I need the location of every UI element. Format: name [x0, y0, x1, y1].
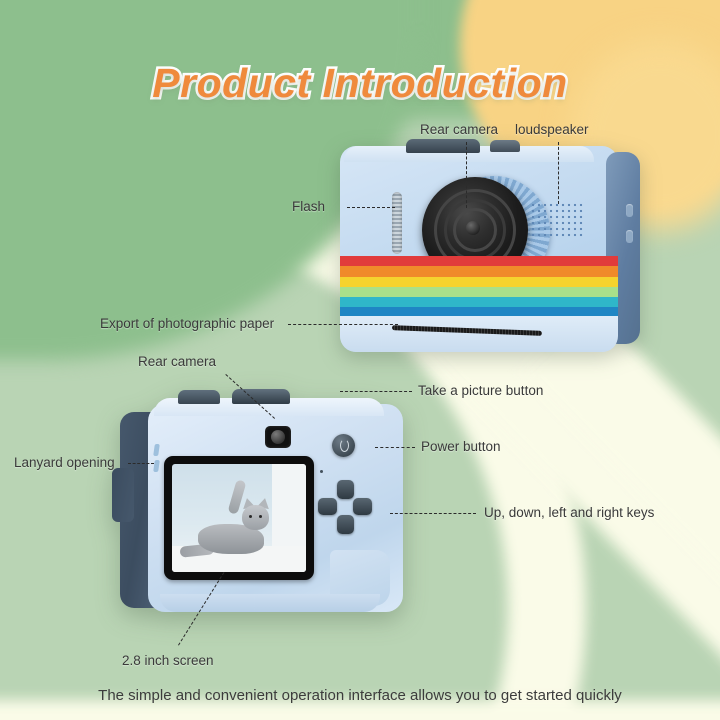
dpad-up-key	[337, 480, 354, 499]
top-camera-illustration	[340, 146, 640, 352]
stripe-teal	[340, 297, 618, 307]
shutter-button-left	[178, 390, 220, 404]
screen-bezel	[164, 456, 314, 580]
label-rear-camera-top: Rear camera	[420, 122, 498, 137]
camera-lower-body	[340, 316, 618, 352]
dpad-right-key	[353, 498, 372, 515]
label-flash: Flash	[292, 199, 325, 214]
leader-lanyard	[128, 463, 154, 464]
label-export-paper: Export of photographic paper	[100, 316, 274, 331]
infographic-canvas: Product Introduction	[0, 0, 720, 720]
label-take-picture: Take a picture button	[418, 383, 543, 398]
stripe-red	[340, 256, 618, 266]
label-dpad-keys: Up, down, left and right keys	[484, 505, 654, 520]
flash-strip-icon	[392, 192, 402, 254]
stripe-green	[340, 287, 618, 297]
page-title: Product Introduction	[0, 60, 720, 107]
leader-rear-camera-top	[466, 142, 467, 208]
leader-take-picture	[340, 391, 412, 392]
loudspeaker-grille-icon	[530, 202, 584, 238]
lanyard-tab	[112, 468, 134, 522]
cat-eye-right	[259, 515, 262, 518]
lens-aperture	[466, 221, 480, 235]
direction-pad-icon	[318, 480, 372, 534]
leader-export-paper	[288, 324, 398, 325]
leader-loudspeaker	[558, 142, 559, 204]
camera-rear-bottom-edge	[160, 594, 380, 612]
leader-flash	[347, 207, 395, 208]
rear-camera-module-icon	[265, 426, 291, 448]
label-screen-size: 2.8 inch screen	[122, 653, 214, 668]
secondary-button-top	[490, 140, 520, 152]
indicator-dot	[320, 470, 323, 473]
lcd-screen-preview	[172, 464, 306, 572]
shutter-button-right	[232, 389, 290, 404]
footer-caption: The simple and convenient operation inte…	[0, 687, 720, 704]
label-lanyard-opening: Lanyard opening	[14, 455, 115, 470]
label-rear-camera-bottom: Rear camera	[138, 354, 216, 369]
leader-dpad	[390, 513, 476, 514]
side-button-upper	[626, 204, 633, 217]
stripe-orange	[340, 266, 618, 276]
label-loudspeaker: loudspeaker	[515, 122, 589, 137]
leader-power	[375, 447, 415, 448]
stripe-yellow	[340, 277, 618, 287]
rainbow-stripe-band	[340, 256, 618, 318]
dpad-down-key	[337, 515, 354, 534]
power-button-icon	[332, 434, 355, 457]
side-button-lower	[626, 230, 633, 243]
cat-eye-left	[249, 515, 252, 518]
dpad-left-key	[318, 498, 337, 515]
label-power-button: Power button	[421, 439, 501, 454]
bottom-camera-illustration	[120, 398, 420, 618]
cat-head	[242, 505, 269, 530]
shutter-button-top	[406, 139, 480, 153]
